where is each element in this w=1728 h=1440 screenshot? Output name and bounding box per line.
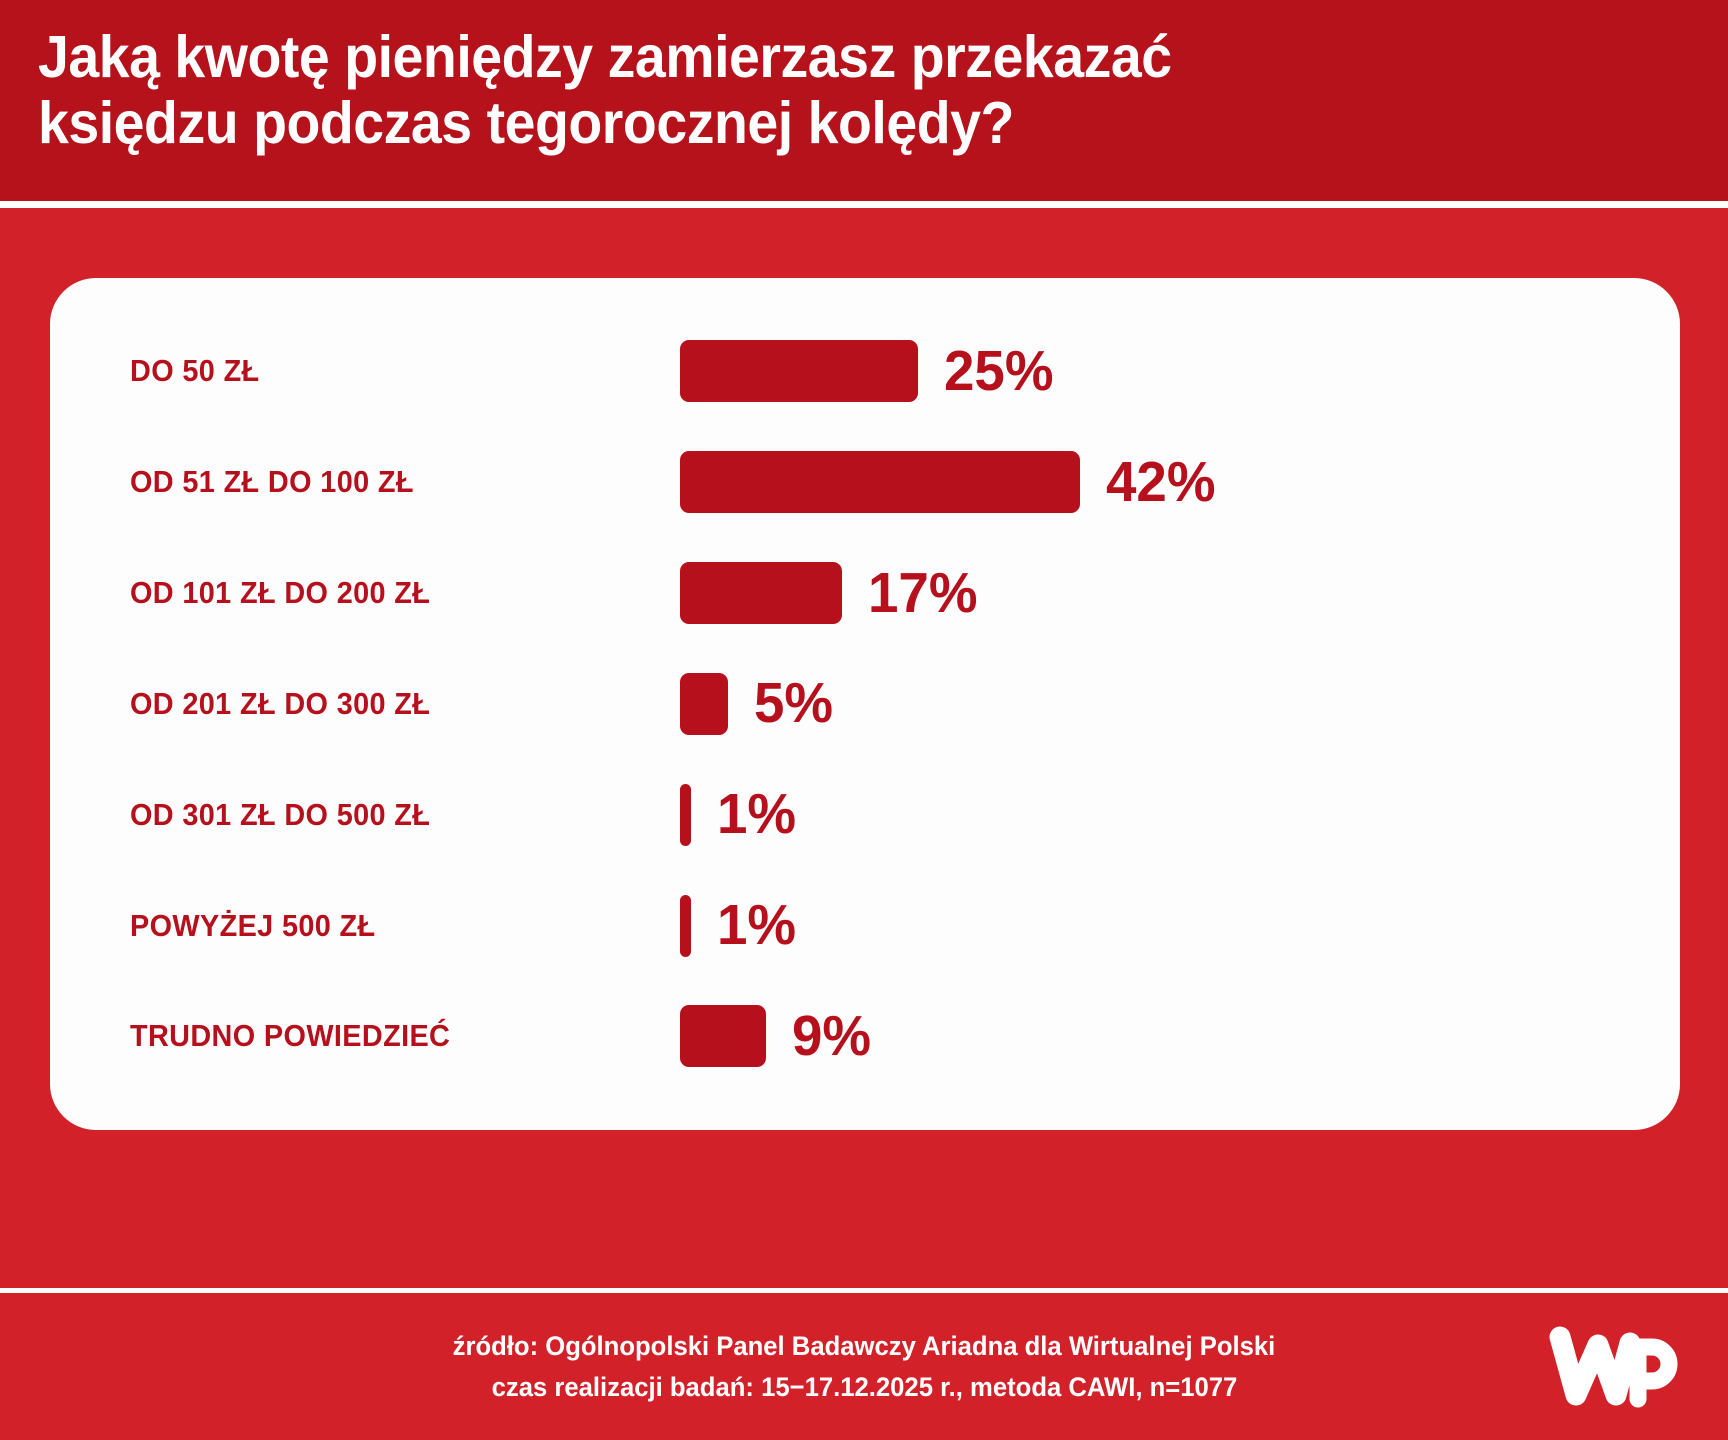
page-title: Jaką kwotę pieniędzy zamierzasz przekaza… <box>38 24 1585 156</box>
chart-row: OD 51 ZŁ DO 100 ZŁ42% <box>50 430 1680 534</box>
chart-bar <box>680 340 918 402</box>
chart-bar-zone: 1% <box>680 784 1680 846</box>
chart-bar-zone: 42% <box>680 451 1680 513</box>
chart-bar <box>680 562 842 624</box>
chart-value-label: 17% <box>868 565 978 622</box>
chart-row-label: TRUDNO POWIEDZIEĆ <box>130 1018 642 1054</box>
chart-row-label: OD 101 ZŁ DO 200 ZŁ <box>130 575 642 611</box>
body-area: DO 50 ZŁ25%OD 51 ZŁ DO 100 ZŁ42%OD 101 Z… <box>0 208 1728 1288</box>
chart-row-label: OD 51 ZŁ DO 100 ZŁ <box>130 464 642 500</box>
chart-bar-zone: 25% <box>680 340 1680 402</box>
chart-row-label: POWYŻEJ 500 ZŁ <box>130 908 642 944</box>
header-divider <box>0 201 1728 208</box>
chart-value-label: 42% <box>1106 454 1216 511</box>
chart-bar <box>680 673 728 735</box>
chart-card: DO 50 ZŁ25%OD 51 ZŁ DO 100 ZŁ42%OD 101 Z… <box>50 278 1680 1130</box>
chart-row-label: OD 301 ZŁ DO 500 ZŁ <box>130 797 642 833</box>
chart-bar <box>680 895 691 957</box>
chart-value-label: 25% <box>944 343 1054 400</box>
source-line: źródło: Ogólnopolski Panel Badawczy Aria… <box>453 1326 1276 1367</box>
chart-value-label: 9% <box>792 1008 871 1065</box>
chart-value-label: 1% <box>717 786 796 843</box>
chart-row: OD 201 ZŁ DO 300 ZŁ5% <box>50 652 1680 756</box>
chart-value-label: 1% <box>717 897 796 954</box>
chart-value-label: 5% <box>754 675 833 732</box>
chart-row-label: DO 50 ZŁ <box>130 353 642 389</box>
chart-bar <box>680 784 691 846</box>
chart-row: POWYŻEJ 500 ZŁ1% <box>50 874 1680 978</box>
chart-bar-zone: 9% <box>680 1005 1680 1067</box>
chart-bar-zone: 1% <box>680 895 1680 957</box>
chart-bar <box>680 451 1080 513</box>
chart-bar-zone: 5% <box>680 673 1680 735</box>
method-line: czas realizacji badań: 15−17.12.2025 r.,… <box>491 1367 1237 1408</box>
chart-row: TRUDNO POWIEDZIEĆ9% <box>50 984 1680 1088</box>
chart-row-label: OD 201 ZŁ DO 300 ZŁ <box>130 686 642 722</box>
chart-row: DO 50 ZŁ25% <box>50 319 1680 423</box>
chart-bar <box>680 1005 766 1067</box>
footer: źródło: Ogólnopolski Panel Badawczy Aria… <box>0 1293 1728 1440</box>
chart-row: OD 101 ZŁ DO 200 ZŁ17% <box>50 541 1680 645</box>
header-band: Jaką kwotę pieniędzy zamierzasz przekaza… <box>0 0 1728 208</box>
chart-row: OD 301 ZŁ DO 500 ZŁ1% <box>50 763 1680 867</box>
wp-logo <box>1546 1321 1686 1413</box>
infographic-root: Jaką kwotę pieniędzy zamierzasz przekaza… <box>0 0 1728 1440</box>
chart-bar-zone: 17% <box>680 562 1680 624</box>
